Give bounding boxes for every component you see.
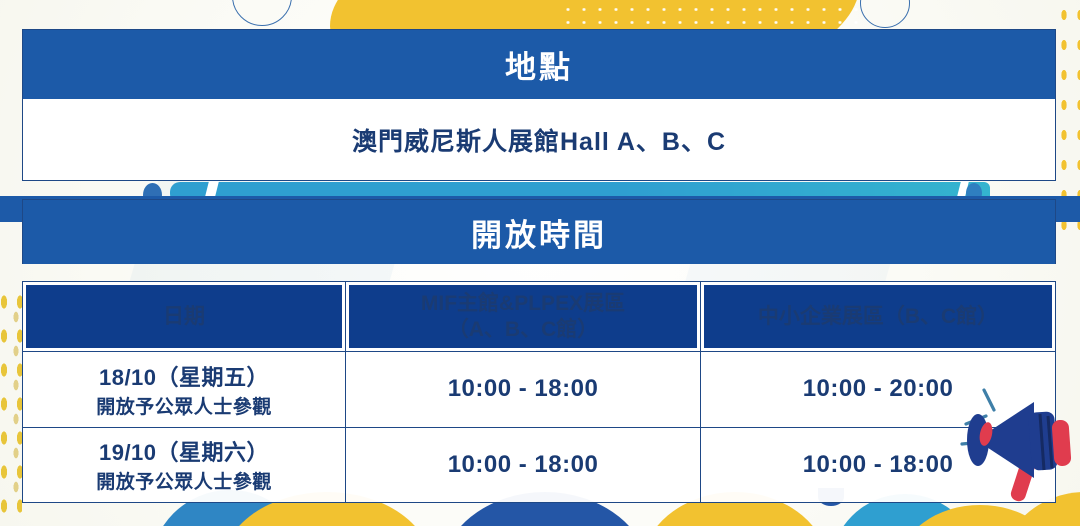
venue-section-title: 地點 [23, 30, 1055, 99]
table-row: 19/10（星期六） 開放予公眾人士參觀 10:00 - 18:00 10:00… [23, 427, 1056, 503]
column-header-date: 日期 [23, 282, 346, 352]
opening-hours-table: 日期 MIF主館&PLPEX展區 （A、B、C館） 中小企業展區（B、C館） 1… [22, 281, 1056, 503]
table-row: 18/10（星期五） 開放予公眾人士參觀 10:00 - 18:00 10:00… [23, 352, 1056, 428]
poster-canvas: 地點 澳門威尼斯人展館Hall A、B、C 開放時間 日期 MIF主館&PLPE… [0, 0, 1080, 526]
yellow-dot-column-left [0, 285, 22, 515]
venue-value: 澳門威尼斯人展館Hall A、B、C [23, 99, 1055, 180]
circle-outline-icon-left [232, 0, 292, 26]
table-header: 日期 MIF主館&PLPEX展區 （A、B、C館） 中小企業展區（B、C館） [23, 282, 1056, 352]
cell-date-line1: 19/10（星期六） [24, 435, 344, 467]
column-header-main-hall-line2: （A、B、C館） [448, 318, 599, 341]
cell-date-line1: 18/10（星期五） [24, 360, 344, 392]
venue-card: 地點 澳門威尼斯人展館Hall A、B、C [22, 29, 1056, 181]
table-header-row: 日期 MIF主館&PLPEX展區 （A、B、C館） 中小企業展區（B、C館） [23, 282, 1056, 352]
cell-date-line2: 開放予公眾人士參觀 [24, 467, 344, 494]
cell-date-line2: 開放予公眾人士參觀 [24, 392, 344, 419]
cell-sme-hall-hours: 10:00 - 18:00 [701, 427, 1056, 503]
cell-date: 19/10（星期六） 開放予公眾人士參觀 [23, 427, 346, 503]
column-header-main-hall-line1: MIF主館&PLPEX展區 [421, 292, 625, 315]
bottom-circle-yellow-3 [900, 505, 1060, 526]
cell-main-hall-hours: 10:00 - 18:00 [346, 427, 701, 503]
hours-section-title: 開放時間 [23, 200, 1055, 264]
column-header-sme-hall: 中小企業展區（B、C館） [701, 282, 1056, 352]
cell-sme-hall-hours: 10:00 - 20:00 [701, 352, 1056, 428]
yellow-dot-column-right [1056, 0, 1080, 230]
table-body: 18/10（星期五） 開放予公眾人士參觀 10:00 - 18:00 10:00… [23, 352, 1056, 503]
hours-card: 開放時間 [22, 199, 1056, 264]
circle-outline-icon-right [860, 0, 910, 28]
column-header-main-hall: MIF主館&PLPEX展區 （A、B、C館） [346, 282, 701, 352]
cell-date: 18/10（星期五） 開放予公眾人士參觀 [23, 352, 346, 428]
cell-main-hall-hours: 10:00 - 18:00 [346, 352, 701, 428]
